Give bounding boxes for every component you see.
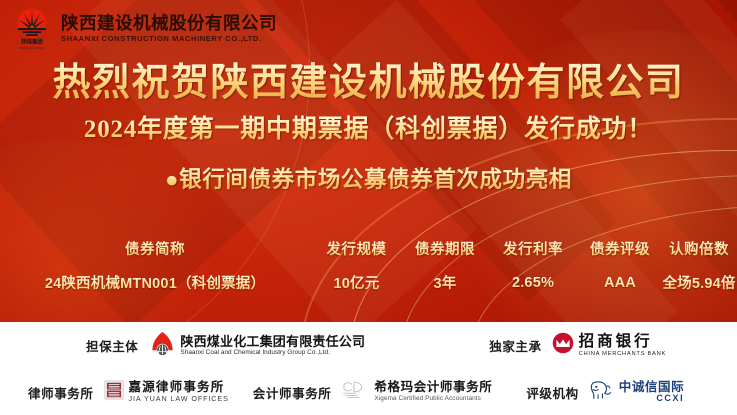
rating-agency-name-cn: 中诚信国际 — [619, 381, 685, 394]
rating-agency-group: 评级机构 — [526, 378, 684, 406]
china-merchants-bank-brand: 招商银行 CHINA MERCHANTS BANK — [552, 332, 666, 359]
china-merchants-bank-logo — [552, 332, 574, 359]
table-header-cell: 债券评级 — [579, 238, 661, 259]
shaanxi-group-fan-logo: 陕煤集团 SHAANXI GROUP — [12, 6, 52, 51]
partners-footer: 担保主体 — [0, 322, 737, 415]
svg-text:陕煤集团: 陕煤集团 — [21, 38, 43, 46]
table-cell-subscription: 全场5.94倍 — [661, 272, 737, 293]
bond-details-table: 债券简称 发行规模 债券期限 发行利率 债券评级 认购倍数 24陕西机械MTN0… — [0, 238, 737, 293]
headline-block: 热烈祝贺陕西建设机械股份有限公司 2024年度第一期中期票据（科创票据）发行成功… — [0, 60, 737, 194]
lead-underwriter-name-cn: 招商银行 — [579, 334, 666, 350]
svg-text:SHAANXI GROUP: SHAANXI GROUP — [19, 46, 45, 50]
xigema-cpa-logo — [341, 379, 369, 405]
guarantor-group: 担保主体 — [86, 331, 365, 361]
table-header-cell: 债券简称 — [0, 238, 310, 259]
table-header-cell: 发行规模 — [310, 238, 403, 259]
guarantor-label: 担保主体 — [86, 336, 138, 355]
table-header-cell: 认购倍数 — [661, 238, 737, 259]
table-header-cell: 发行利率 — [487, 238, 579, 259]
jia-yuan-seal-logo — [104, 380, 124, 405]
shaanxi-coal-chemical-logo — [150, 331, 175, 361]
jia-yuan-brand: 嘉源律师事务所 JIA YUAN LAW OFFICES — [104, 380, 229, 405]
law-firm-label: 律师事务所 — [28, 383, 94, 402]
rating-agency-label: 评级机构 — [526, 383, 578, 402]
partners-row-secondary: 律师事务所 — [0, 369, 737, 415]
lead-underwriter-group: 独家主承 招商银行 CHINA MERCHANTS BANK — [489, 332, 666, 359]
table-header-cell: 债券期限 — [403, 238, 487, 259]
partners-row-primary: 担保主体 — [0, 322, 737, 369]
table-cell-rate: 2.65% — [487, 275, 579, 291]
law-firm-name-en: JIA YUAN LAW OFFICES — [129, 395, 229, 403]
table-cell-issue-size: 10亿元 — [310, 272, 403, 293]
guarantor-name-cn: 陕西煤业化工集团有限责任公司 — [180, 335, 365, 349]
company-name-en: SHAANXI CONSTRUCTION MACHINERY CO.,LTD. — [61, 34, 277, 43]
headline-tertiary: ●银行间债券市场公募债券首次成功亮相 — [0, 162, 737, 194]
law-firm-name-cn: 嘉源律师事务所 — [129, 381, 229, 394]
congratulation-poster: 陕煤集团 SHAANXI GROUP 陕西建设机械股份有限公司 SHAANXI … — [0, 0, 737, 415]
lead-underwriter-name-en: CHINA MERCHANTS BANK — [579, 351, 666, 357]
law-firm-group: 律师事务所 — [28, 380, 229, 405]
accounting-firm-label: 会计师事务所 — [253, 383, 332, 402]
red-banner-background: 陕煤集团 SHAANXI GROUP 陕西建设机械股份有限公司 SHAANXI … — [0, 0, 737, 322]
company-name-cn: 陕西建设机械股份有限公司 — [61, 14, 277, 32]
table-cell-rating: AAA — [579, 275, 661, 291]
table-header-row: 债券简称 发行规模 债券期限 发行利率 债券评级 认购倍数 — [0, 238, 737, 259]
table-cell-term: 3年 — [403, 272, 487, 293]
table-row: 24陕西机械MTN001（科创票据） 10亿元 3年 2.65% AAA 全场5… — [0, 272, 737, 293]
accounting-firm-name-cn: 希格玛会计师事务所 — [374, 381, 492, 394]
headline-secondary: 2024年度第一期中期票据（科创票据）发行成功！ — [0, 114, 737, 145]
rating-agency-name-en: CCXI — [619, 394, 685, 403]
accounting-firm-name-en: Xigema Certified Public Accountants — [374, 396, 492, 403]
ccxi-brand: 中诚信国际 CCXI — [589, 378, 685, 406]
headline-primary: 热烈祝贺陕西建设机械股份有限公司 — [0, 60, 737, 106]
accounting-firm-group: 会计师事务所 — [253, 379, 493, 405]
ccxi-elephant-logo — [589, 378, 614, 406]
guarantor-name-en: Shaanxi Coal and Chemical Industry Group… — [180, 350, 365, 357]
company-logo-header: 陕煤集团 SHAANXI GROUP 陕西建设机械股份有限公司 SHAANXI … — [12, 6, 277, 51]
table-cell-bond-name: 24陕西机械MTN001（科创票据） — [0, 272, 310, 293]
shaanxi-coal-chemical-brand: 陕西煤业化工集团有限责任公司 Shaanxi Coal and Chemical… — [150, 331, 365, 361]
lead-underwriter-label: 独家主承 — [489, 336, 541, 355]
xigema-brand: 希格玛会计师事务所 Xigema Certified Public Accoun… — [341, 379, 492, 405]
